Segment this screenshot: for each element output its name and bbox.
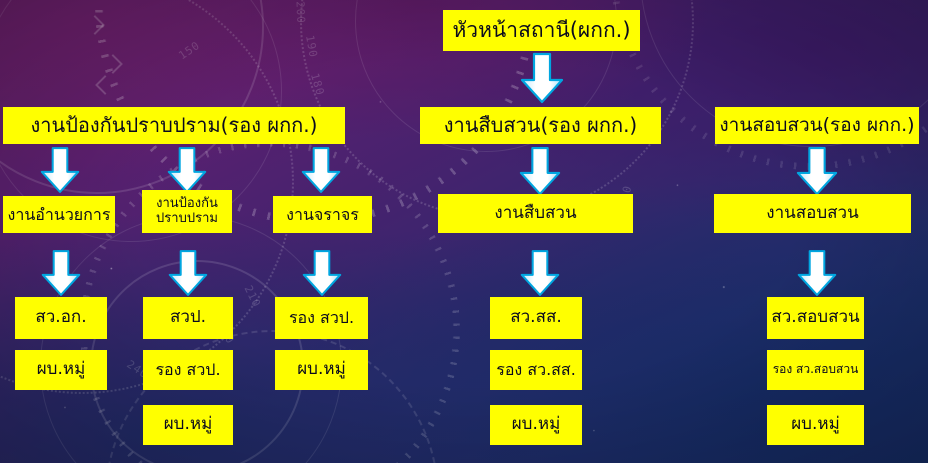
node-branch-prevention[interactable]: งานป้องกันปราบปราม(รอง ผกก.)	[3, 107, 345, 144]
node-position-prevention-3[interactable]: ผบ.หมู่	[143, 405, 233, 445]
node-sub-traffic[interactable]: งานจราจร	[273, 196, 372, 233]
node-position-prevention-2[interactable]: รอง สวป.	[143, 350, 233, 390]
node-position-inquiry-3[interactable]: ผบ.หมู่	[767, 405, 864, 445]
node-position-traffic-2[interactable]: ผบ.หมู่	[275, 350, 368, 390]
node-branch-investigation[interactable]: งานสืบสวน(รอง ผกก.)	[420, 107, 661, 144]
node-sub-prevention[interactable]: งานป้องกัน ปราบปราม	[142, 190, 232, 233]
node-sub-investigation[interactable]: งานสืบสวน	[438, 194, 633, 233]
node-position-traffic-1[interactable]: รอง สวป.	[275, 297, 368, 339]
node-position-admin-1[interactable]: สว.อก.	[15, 297, 107, 339]
node-root[interactable]: หัวหน้าสถานี(ผกก.)	[443, 10, 640, 51]
node-sub-inquiry[interactable]: งานสอบสวน	[714, 194, 911, 233]
node-position-prevention-1[interactable]: สวป.	[143, 297, 233, 339]
org-chart-canvas: 200 190 180 150 210 220 240 180 หัวหน้าส…	[0, 0, 928, 463]
node-position-inquiry-1[interactable]: สว.สอบสวน	[767, 297, 864, 339]
node-position-investigation-2[interactable]: รอง สว.สส.	[490, 350, 582, 390]
node-sub-admin[interactable]: งานอำนวยการ	[3, 196, 115, 233]
node-branch-inquiry[interactable]: งานสอบสวน(รอง ผกก.)	[715, 107, 919, 144]
node-position-inquiry-2[interactable]: รอง สว.สอบสวน	[767, 350, 864, 390]
node-position-investigation-1[interactable]: สว.สส.	[490, 297, 582, 339]
node-position-investigation-3[interactable]: ผบ.หมู่	[490, 405, 582, 445]
node-position-admin-2[interactable]: ผบ.หมู่	[15, 350, 107, 390]
